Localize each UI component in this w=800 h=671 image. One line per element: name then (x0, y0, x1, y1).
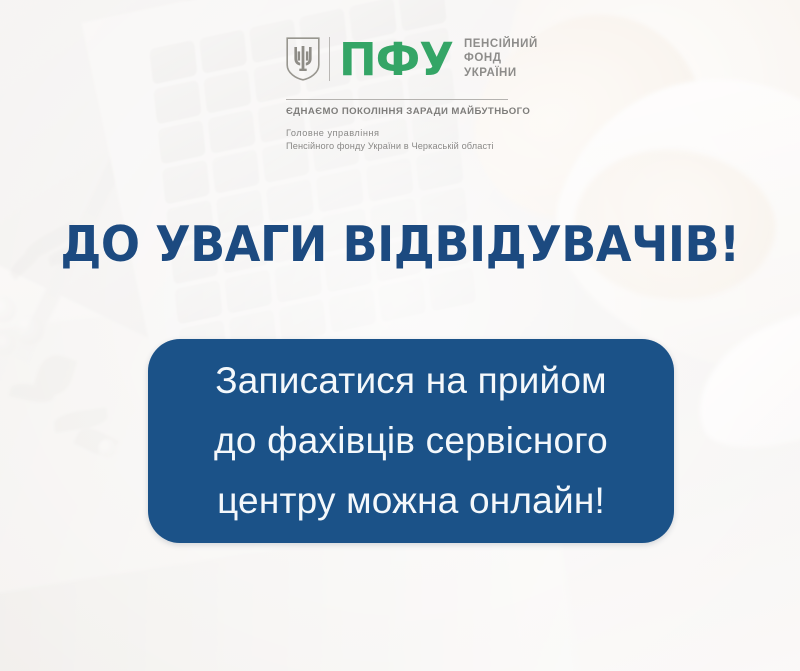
callout-line-3: центру можна онлайн! (217, 473, 605, 529)
poster-headline: ДО УВАГИ ВІДВІДУВАЧІВ! (24, 219, 776, 270)
announcement-callout: Записатися на прийом до фахівців сервісн… (148, 339, 674, 543)
pfu-full-name: ПЕНСІЙНИЙ ФОНД УКРАЇНИ (464, 38, 538, 81)
logo-tagline: ЄДНАЄМО ПОКОЛІННЯ ЗАРАДИ МАЙБУТНЬОГО (286, 106, 522, 117)
logo-rule (286, 99, 508, 100)
department-name: Головне управління Пенсійного фонду Укра… (286, 127, 522, 154)
department-line-2: Пенсійного фонду України в Черкаській об… (286, 140, 522, 153)
callout-line-1: Записатися на прийом (215, 353, 607, 409)
logo-row: ПФУ ПЕНСІЙНИЙ ФОНД УКРАЇНИ (286, 28, 522, 90)
department-line-1: Головне управління (286, 127, 522, 140)
poster-canvas: ПФУ ПЕНСІЙНИЙ ФОНД УКРАЇНИ ЄДНАЄМО ПОКОЛ… (0, 0, 800, 671)
pfu-word-2: ФОНД (464, 52, 538, 66)
pfu-word-3: УКРАЇНИ (464, 67, 538, 81)
pfu-word-1: ПЕНСІЙНИЙ (464, 38, 538, 52)
pfu-logo-block: ПФУ ПЕНСІЙНИЙ ФОНД УКРАЇНИ ЄДНАЄМО ПОКОЛ… (286, 28, 522, 154)
tryzub-coat-of-arms-icon (286, 37, 320, 81)
callout-line-2: до фахівців сервісного (214, 413, 608, 469)
pfu-abbreviation: ПФУ (339, 37, 453, 82)
logo-divider (329, 37, 330, 81)
